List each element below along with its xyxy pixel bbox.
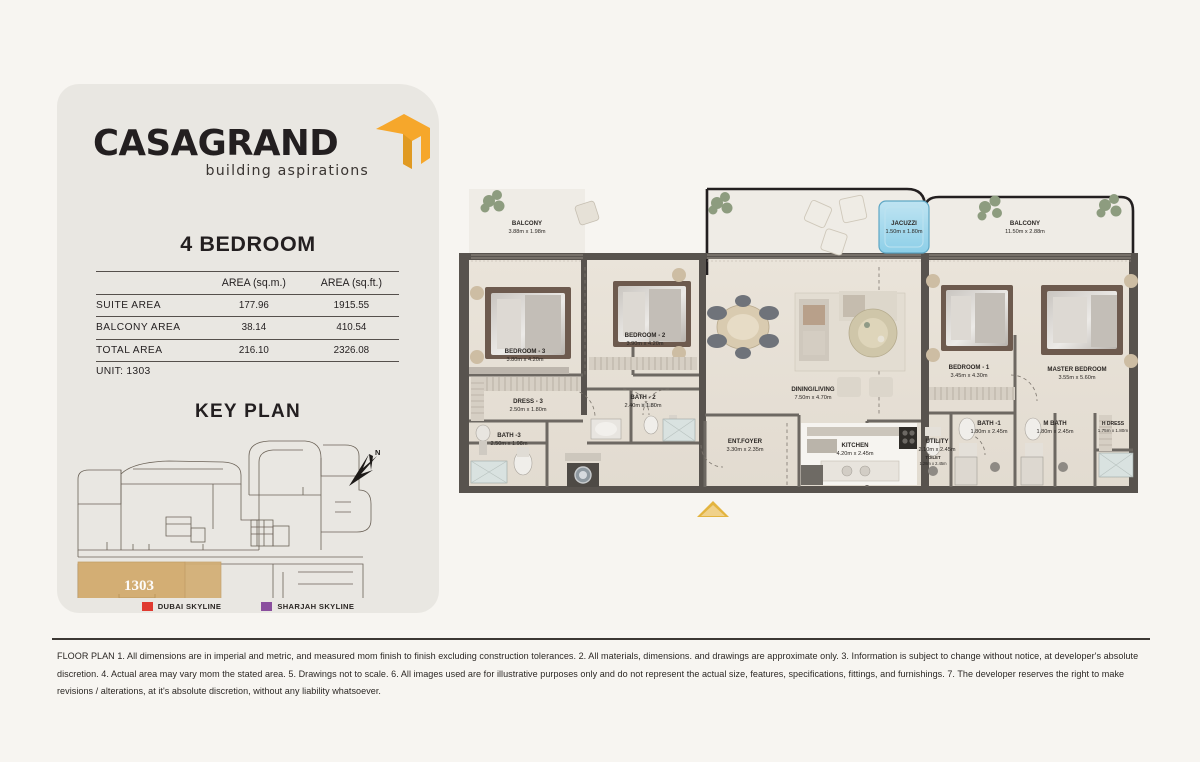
svg-text:BATH - 2: BATH - 2 [630,394,656,401]
key-plan-legend: DUBAI SKYLINE SHARJAH SKYLINE [57,602,439,611]
svg-text:H DRESS: H DRESS [1102,421,1125,427]
svg-text:2.10m x 2.45m: 2.10m x 2.45m [919,447,956,453]
laundry-fixtures [565,453,601,487]
svg-text:1.75m x 1.80m: 1.75m x 1.80m [1098,428,1129,433]
area-table: AREA (sq.m.) AREA (sq.ft.) SUITE AREA 17… [96,271,399,362]
legend-swatch-dubai [142,602,153,611]
footer-disclaimer: FLOOR PLAN 1. All dimensions are in impe… [57,648,1147,701]
svg-text:DRESS - 3: DRESS - 3 [513,398,543,405]
svg-text:BALCONY: BALCONY [512,220,542,227]
brand-name: CASAGRAND [93,126,413,162]
row-sqm-balcony: 38.14 [204,317,304,340]
svg-text:3.88m x 1.98m: 3.88m x 1.98m [509,229,546,235]
svg-text:11.50m x 2.88m: 11.50m x 2.88m [1005,229,1045,235]
svg-text:UTILITY: UTILITY [925,438,948,445]
svg-text:ENT.FOYER: ENT.FOYER [728,438,763,445]
legend-item-sharjah: SHARJAH SKYLINE [261,602,354,611]
jacuzzi [879,201,929,253]
svg-text:BEDROOM - 2: BEDROOM - 2 [625,332,666,339]
table-row: SUITE AREA 177.96 1915.55 [96,294,399,317]
svg-text:BEDROOM - 3: BEDROOM - 3 [505,348,546,355]
legend-label-sharjah: SHARJAH SKYLINE [277,602,354,611]
legend-item-dubai: DUBAI SKYLINE [142,602,222,611]
svg-text:3.45m x 4.30m: 3.45m x 4.30m [951,373,988,379]
row-sqm-total: 216.10 [204,339,304,362]
table-header-row: AREA (sq.m.) AREA (sq.ft.) [96,272,399,295]
svg-text:1.50m x 1.80m: 1.50m x 1.80m [886,229,923,235]
legend-swatch-sharjah [261,602,272,611]
row-sqm-suite: 177.96 [204,294,304,317]
col-header-sqm: AREA (sq.m.) [204,272,304,295]
page-title: 4 BEDROOM [57,232,439,257]
svg-text:7.50m x 4.70m: 7.50m x 4.70m [795,395,832,401]
key-plan-diagram: 1303 N [73,432,423,598]
svg-text:BALCONY: BALCONY [1010,220,1040,227]
svg-text:1.80m x 2.45m: 1.80m x 2.45m [971,429,1008,435]
svg-text:BATH -3: BATH -3 [497,432,521,439]
row-sqft-balcony: 410.54 [304,317,399,340]
svg-text:2.50m x 1.98m: 2.50m x 1.98m [491,441,528,447]
arrow-up-right-3d-icon [374,112,432,172]
info-card: CASAGRAND building aspirations 4 BEDROOM… [57,84,439,613]
svg-text:3.30m x 2.35m: 3.30m x 2.35m [727,447,764,453]
svg-text:4.20m x 2.45m: 4.20m x 2.45m [837,451,874,457]
row-label-suite: SUITE AREA [96,294,204,317]
col-header-blank [96,272,204,295]
row-label-total: TOTAL AREA [96,339,204,362]
entrance-marker-icon [697,501,729,517]
col-header-sqft: AREA (sq.ft.) [304,272,399,295]
svg-text:BEDROOM - 1: BEDROOM - 1 [949,364,990,371]
key-plan-highlight-unit[interactable]: 1303 [78,562,221,598]
svg-text:BATH -1: BATH -1 [977,420,1001,427]
legend-label-dubai: DUBAI SKYLINE [158,602,222,611]
key-plan-unit-label: 1303 [124,578,154,594]
svg-text:3.80m x 4.20m: 3.80m x 4.20m [507,357,544,363]
footer-divider [52,638,1150,640]
north-label: N [375,448,380,457]
table-row: BALCONY AREA 38.14 410.54 [96,317,399,340]
svg-text:2.40m x 1.80m: 2.40m x 1.80m [625,403,662,409]
area-table-head: AREA (sq.m.) AREA (sq.ft.) [96,272,399,295]
area-table-body: SUITE AREA 177.96 1915.55 BALCONY AREA 3… [96,294,399,362]
row-sqft-suite: 1915.55 [304,294,399,317]
row-sqft-total: 2326.08 [304,339,399,362]
svg-text:1.80m x 2.45m: 1.80m x 2.45m [1037,429,1074,435]
svg-text:DINING/LIVING: DINING/LIVING [791,386,835,393]
svg-text:KITCHEN: KITCHEN [841,442,868,449]
svg-text:1.28m x 2.45m: 1.28m x 2.45m [919,461,947,466]
brand-tagline: building aspirations [93,163,369,179]
table-row: TOTAL AREA 216.10 2326.08 [96,339,399,362]
svg-text:3.90m x 4.20m: 3.90m x 4.20m [627,341,664,347]
brand-logo: CASAGRAND building aspirations [93,126,413,188]
unit-number: UNIT: 1303 [96,366,151,377]
svg-text:2.50m x 1.80m: 2.50m x 1.80m [510,407,547,413]
svg-text:TOILET: TOILET [925,455,941,460]
svg-text:JACUZZI: JACUZZI [891,220,917,227]
north-arrow-icon: N [349,448,380,486]
svg-text:MASTER BEDROOM: MASTER BEDROOM [1047,366,1106,373]
floor-plan-drawing: BALCONY 3.88m x 1.98m BEDROOM - 3 3.80m … [455,175,1185,525]
svg-text:M BATH: M BATH [1043,420,1066,427]
svg-text:3.55m x 5.60m: 3.55m x 5.60m [1059,375,1096,381]
row-label-balcony: BALCONY AREA [96,317,204,340]
key-plan-title: KEY PLAN [57,401,439,423]
